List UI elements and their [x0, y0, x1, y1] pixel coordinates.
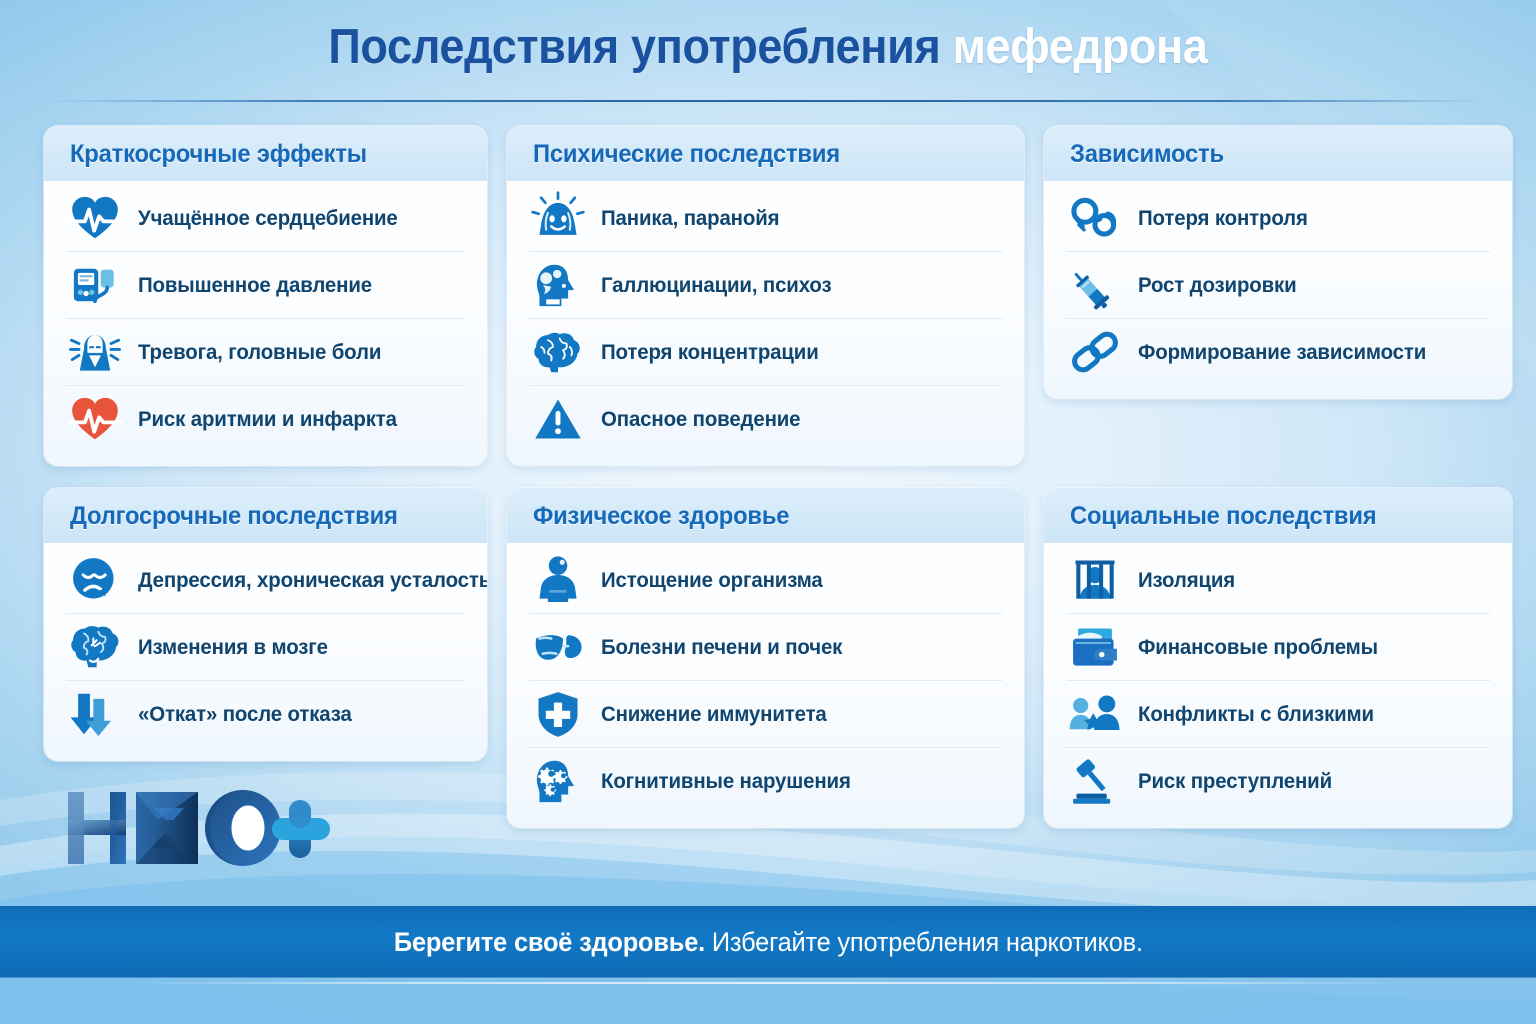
list-item[interactable]: Изменения в мозге: [66, 613, 465, 680]
list-item[interactable]: Галлюцинации, психоз: [529, 251, 1002, 318]
card-dependence: Зависимость Потеря контроля: [1044, 126, 1512, 399]
list-item[interactable]: Риск аритмии и инфаркта: [66, 385, 465, 452]
list-item[interactable]: Тревога, головные боли: [66, 318, 465, 385]
list-item[interactable]: Опасное поведение: [529, 385, 1002, 452]
list-item-label: Галлюцинации, психоз: [601, 273, 832, 298]
gavel-icon: [1066, 752, 1124, 810]
syringe-icon: [1066, 256, 1124, 314]
title-primary: Последствия употребления: [328, 20, 940, 74]
card-body: Истощение организма Болезни печени и поч…: [507, 543, 1024, 828]
list-item-label: Паника, паранойя: [601, 206, 779, 231]
footer-banner: Берегите своё здоровье. Избегайте употре…: [0, 906, 1536, 978]
list-item[interactable]: Изоляция: [1066, 547, 1490, 613]
list-item[interactable]: Формирование зависимости: [1066, 318, 1490, 385]
footer-shine-line: [120, 982, 1416, 984]
list-item[interactable]: Потеря контроля: [1066, 185, 1490, 251]
sad-face-icon: [66, 551, 124, 609]
card-title: Краткосрочные эффекты: [70, 140, 441, 169]
list-item-label: Риск аритмии и инфаркта: [138, 407, 397, 432]
card-title: Социальные последствия: [1070, 502, 1465, 531]
logo-neo-plus[interactable]: [62, 786, 352, 870]
list-item-label: Снижение иммунитета: [601, 702, 827, 727]
prison-bars-icon: [1066, 551, 1124, 609]
list-item-label: Финансовые проблемы: [1138, 635, 1378, 660]
list-item-label: Истощение организма: [601, 568, 823, 593]
header-divider: [50, 100, 1486, 102]
footer-regular-text: Избегайте употребления наркотиков.: [711, 927, 1142, 957]
card-physical-health: Физическое здоровье Истощение организма: [507, 488, 1024, 828]
list-item[interactable]: Рост дозировки: [1066, 251, 1490, 318]
handcuffs-icon: [1066, 189, 1124, 247]
page-title: Последствия употребления мефедрона: [61, 0, 1474, 73]
list-item[interactable]: «Откат» после отказа: [66, 680, 465, 747]
brain-icon: [529, 323, 587, 381]
card-title: Долгосрочные последствия: [70, 502, 441, 531]
card-body: Учащённое сердцебиение: [44, 181, 487, 466]
card-header: Долгосрочные последствия: [44, 488, 487, 543]
card-short-term-effects: Краткосрочные эффекты Учащённое сердцеби…: [44, 126, 487, 466]
footer-bold-text: Берегите своё здоровье.: [394, 927, 705, 957]
list-item-label: Потеря контроля: [1138, 206, 1308, 231]
list-item[interactable]: Потеря концентрации: [529, 318, 1002, 385]
shield-cross-icon: [529, 685, 587, 743]
list-item-label: Риск преступлений: [1138, 769, 1332, 794]
heart-pulse-red-icon: [66, 390, 124, 448]
card-title: Зависимость: [1070, 140, 1465, 169]
card-social-consequences: Социальные последствия: [1044, 488, 1512, 828]
logo-letter-n: [68, 792, 126, 864]
heart-pulse-icon: [66, 189, 124, 247]
logo-letter-o: [205, 790, 281, 866]
list-item-label: Опасное поведение: [601, 407, 800, 432]
card-header: Социальные последствия: [1044, 488, 1512, 543]
list-item-label: Повышенное давление: [138, 273, 372, 298]
panic-face-icon: [529, 189, 587, 247]
list-item-label: Конфликты с близкими: [1138, 702, 1374, 727]
title-accent: мефедрона: [953, 20, 1208, 74]
list-item-label: Формирование зависимости: [1138, 340, 1426, 365]
list-item[interactable]: Депрессия, хроническая усталость: [66, 547, 465, 613]
list-item[interactable]: Когнитивные нарушения: [529, 747, 1002, 814]
card-mental-consequences: Психические последствия: [507, 126, 1024, 466]
card-header: Психические последствия: [507, 126, 1024, 181]
list-item-label: Болезни печени и почек: [601, 635, 842, 660]
cards-grid: Краткосрочные эффекты Учащённое сердцеби…: [44, 126, 1492, 828]
list-item-label: Тревога, головные боли: [138, 340, 381, 365]
blood-pressure-monitor-icon: [66, 256, 124, 314]
card-body: Изоляция Финансовые проблемы: [1044, 543, 1512, 828]
liver-kidney-icon: [529, 618, 587, 676]
thin-person-icon: [529, 551, 587, 609]
list-item-label: Изменения в мозге: [138, 635, 328, 660]
infographic-poster: Последствия употребления мефедрона Кратк…: [0, 0, 1536, 1024]
head-gears-icon: [529, 752, 587, 810]
conflict-people-icon: [1066, 685, 1124, 743]
list-item[interactable]: Повышенное давление: [66, 251, 465, 318]
card-header: Краткосрочные эффекты: [44, 126, 487, 181]
card-body: Депрессия, хроническая усталость Изменен…: [44, 543, 487, 761]
card-title: Физическое здоровье: [533, 502, 975, 531]
card-title: Психические последствия: [533, 140, 975, 169]
card-body: Паника, паранойя Га: [507, 181, 1024, 466]
card-long-term-consequences: Долгосрочные последствия Депрессия, хрон…: [44, 488, 487, 761]
list-item[interactable]: Снижение иммунитета: [529, 680, 1002, 747]
chain-link-icon: [1066, 323, 1124, 381]
list-item[interactable]: Паника, паранойя: [529, 185, 1002, 251]
warning-triangle-icon: [529, 390, 587, 448]
list-item-label: Учащённое сердцебиение: [138, 206, 398, 231]
list-item-label: Потеря концентрации: [601, 340, 819, 365]
list-item[interactable]: Учащённое сердцебиение: [66, 185, 465, 251]
head-hallucination-icon: [529, 256, 587, 314]
footer-message: Берегите своё здоровье. Избегайте употре…: [394, 927, 1143, 958]
list-item-label: Когнитивные нарушения: [601, 769, 851, 794]
poster-header: Последствия употребления мефедрона: [0, 0, 1536, 104]
list-item-label: Изоляция: [1138, 568, 1235, 593]
card-body: Потеря контроля: [1044, 181, 1512, 399]
logo-plus-sign: [272, 800, 330, 858]
list-item[interactable]: Финансовые проблемы: [1066, 613, 1490, 680]
list-item[interactable]: Конфликты с близкими: [1066, 680, 1490, 747]
wallet-icon: [1066, 618, 1124, 676]
list-item[interactable]: Риск преступлений: [1066, 747, 1490, 814]
list-item-label: Депрессия, хроническая усталость: [138, 568, 487, 593]
down-arrows-icon: [66, 685, 124, 743]
brain-damage-icon: [66, 618, 124, 676]
headache-person-icon: [66, 323, 124, 381]
list-item-label: «Откат» после отказа: [138, 702, 352, 727]
card-header: Зависимость: [1044, 126, 1512, 181]
list-item[interactable]: Истощение организма: [529, 547, 1002, 613]
list-item-label: Рост дозировки: [1138, 273, 1297, 298]
card-header: Физическое здоровье: [507, 488, 1024, 543]
logo-letter-e: [136, 792, 198, 864]
list-item[interactable]: Болезни печени и почек: [529, 613, 1002, 680]
